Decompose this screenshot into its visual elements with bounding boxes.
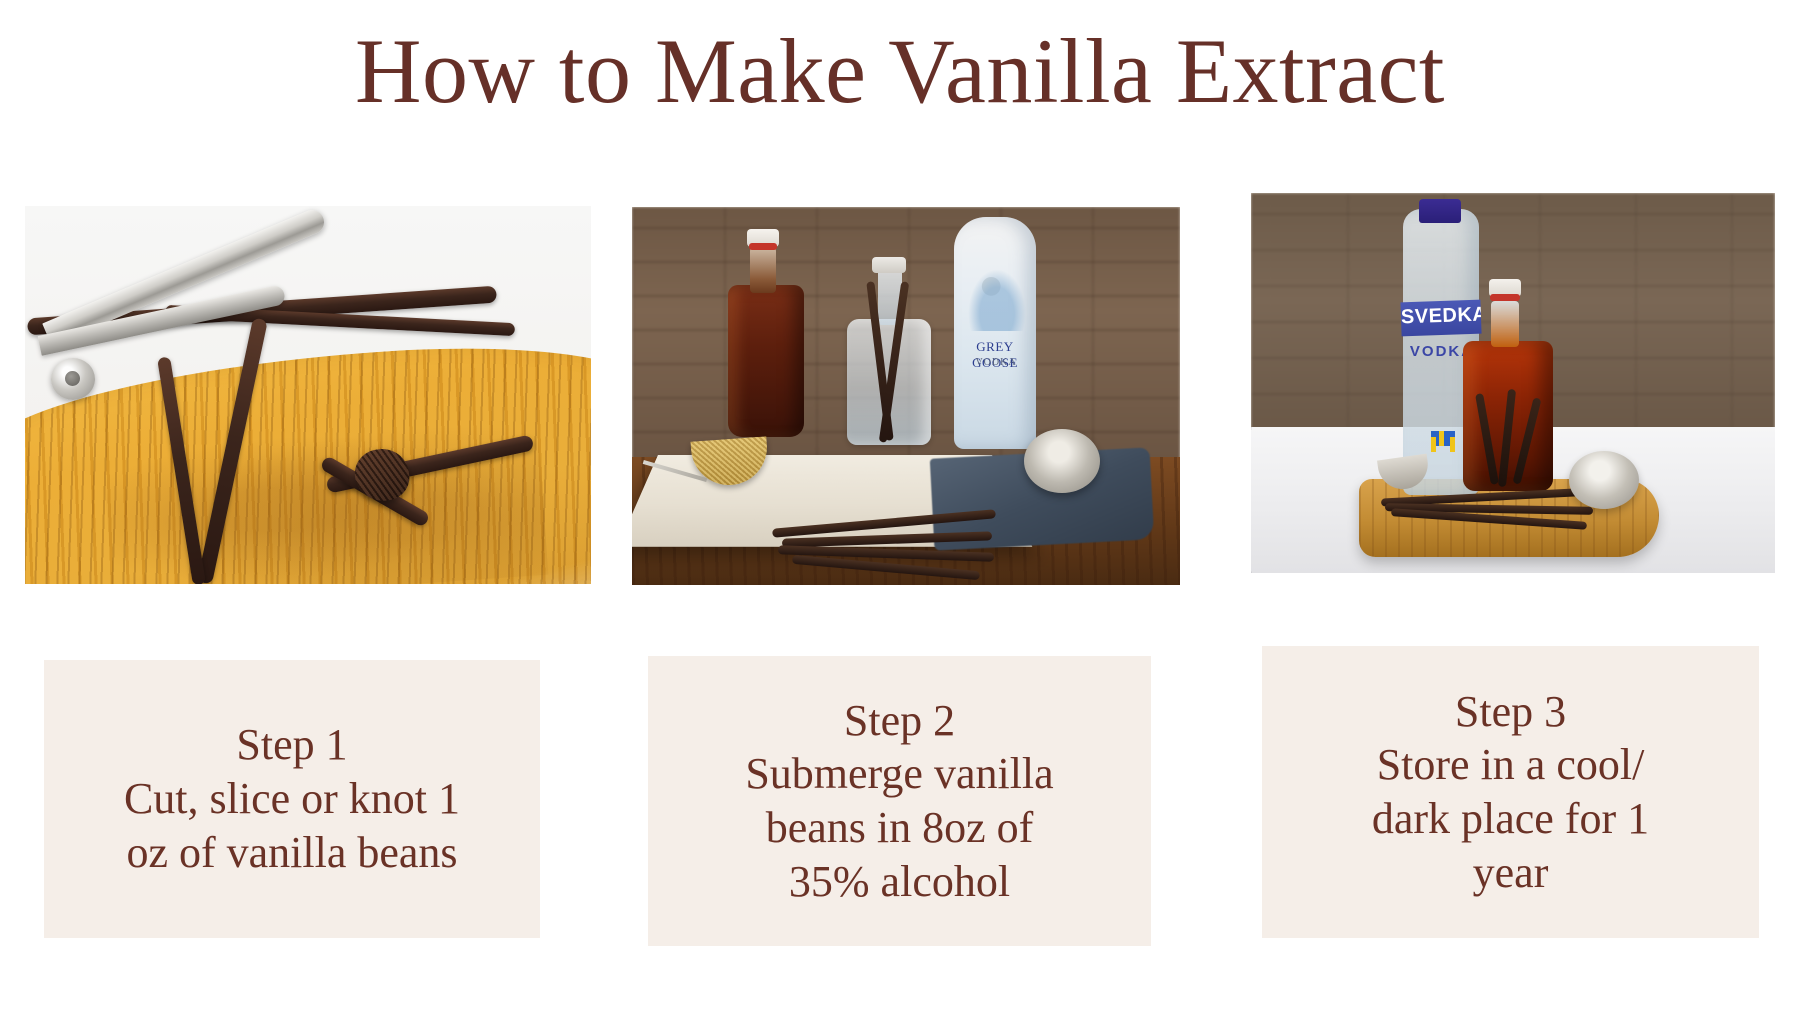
infographic-page: How to Make Vanilla Extract GREY GOOSE V… [0, 0, 1800, 1012]
step-3-body-line-3: year [1473, 846, 1549, 900]
step-1-body-line-2: oz of vanilla beans [126, 826, 457, 880]
funnel [1024, 429, 1100, 493]
amber-extract-bottle [728, 285, 804, 437]
vodka-type-label: VODKA [962, 357, 1030, 370]
step-2-heading: Step 2 [844, 694, 955, 748]
step-1-heading: Step 1 [236, 718, 347, 772]
step-3-photo: SVEDKA VODKA [1251, 193, 1775, 573]
step-2-body-line-3: 35% alcohol [789, 855, 1010, 909]
bottle-cap [1419, 199, 1461, 223]
step-3-body-line-1: Store in a cool/ [1377, 738, 1645, 792]
amber-bottle-neck [750, 247, 776, 293]
step-2-body-line-1: Submerge vanilla [745, 747, 1053, 801]
step-2-photo: GREY GOOSE VODKA [632, 207, 1180, 585]
funnel [1569, 451, 1639, 509]
vodka-bottle [954, 217, 1036, 449]
step-2-caption: Step 2 Submerge vanilla beans in 8oz of … [648, 656, 1151, 946]
vodka-brand-label: SVEDKA [1401, 304, 1482, 333]
vodka-brand-label: GREY GOOSE [958, 339, 1032, 355]
swedish-flag-icon [1431, 431, 1455, 446]
step-1-body-line-1: Cut, slice or knot 1 [124, 772, 460, 826]
step-3-heading: Step 3 [1455, 685, 1566, 739]
step-2-body-line-2: beans in 8oz of [766, 801, 1034, 855]
swing-top-cap [1489, 279, 1521, 297]
swing-top-cap [747, 229, 779, 247]
swing-top-cap [872, 257, 906, 273]
step-1-caption: Step 1 Cut, slice or knot 1 oz of vanill… [44, 660, 540, 938]
goose-illustration [968, 269, 1026, 331]
step-3-body-line-2: dark place for 1 [1372, 792, 1649, 846]
step-3-caption: Step 3 Store in a cool/ dark place for 1… [1262, 646, 1759, 938]
extract-bottle-neck [1491, 301, 1519, 347]
scissors-pivot [51, 358, 95, 400]
page-title: How to Make Vanilla Extract [0, 22, 1800, 121]
step-1-photo [25, 206, 591, 584]
